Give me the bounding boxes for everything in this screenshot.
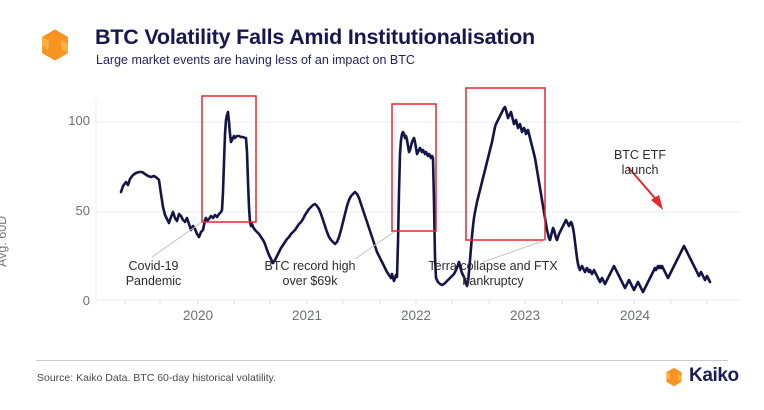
chart-header: BTC Volatility Falls Amid Institutionali… bbox=[0, 0, 764, 82]
annotation-line-1: Terra collapse and FTX bbox=[408, 259, 578, 274]
source-note: Source: Kaiko Data. BTC 60-day historica… bbox=[37, 372, 276, 384]
annotation-line-2: bankruptcy bbox=[408, 274, 578, 289]
page-subtitle: Large market events are having less of a… bbox=[96, 53, 415, 67]
annotation-line-2: over $69k bbox=[250, 274, 370, 289]
annotation-line-2: launch bbox=[585, 163, 695, 178]
chart-svg bbox=[0, 82, 764, 342]
annotation-line-1: BTC record high bbox=[250, 259, 370, 274]
annotation-line-1: Covid-19 bbox=[96, 259, 211, 274]
leader-line-covid bbox=[152, 222, 202, 257]
annotation-covid-19-pandemic: Covid-19 Pandemic bbox=[96, 259, 211, 289]
kaiko-hexagon-logo-icon bbox=[664, 367, 684, 387]
kaiko-hexagon-logo-icon bbox=[38, 28, 72, 62]
footer-divider bbox=[36, 360, 728, 361]
chart-plot-area: Avg. 60D 100 50 0 2020 2021 2022 2023 20… bbox=[0, 82, 764, 342]
annotation-line-1: BTC ETF bbox=[585, 148, 695, 163]
annotation-btc-record-high: BTC record high over $69k bbox=[250, 259, 370, 289]
annotation-line-2: Pandemic bbox=[96, 274, 211, 289]
x-axis-ticks bbox=[125, 300, 707, 304]
annotation-btc-etf-launch: BTC ETF launch bbox=[585, 148, 695, 178]
annotation-terra-collapse-ftx: Terra collapse and FTX bankruptcy bbox=[408, 259, 578, 289]
chart-page: BTC Volatility Falls Amid Institutionali… bbox=[0, 0, 764, 410]
leader-line-btc-record-high bbox=[355, 232, 394, 259]
footer-brand: Kaiko bbox=[664, 366, 760, 390]
brand-name: Kaiko bbox=[689, 365, 739, 387]
page-title: BTC Volatility Falls Amid Institutionali… bbox=[95, 25, 535, 50]
